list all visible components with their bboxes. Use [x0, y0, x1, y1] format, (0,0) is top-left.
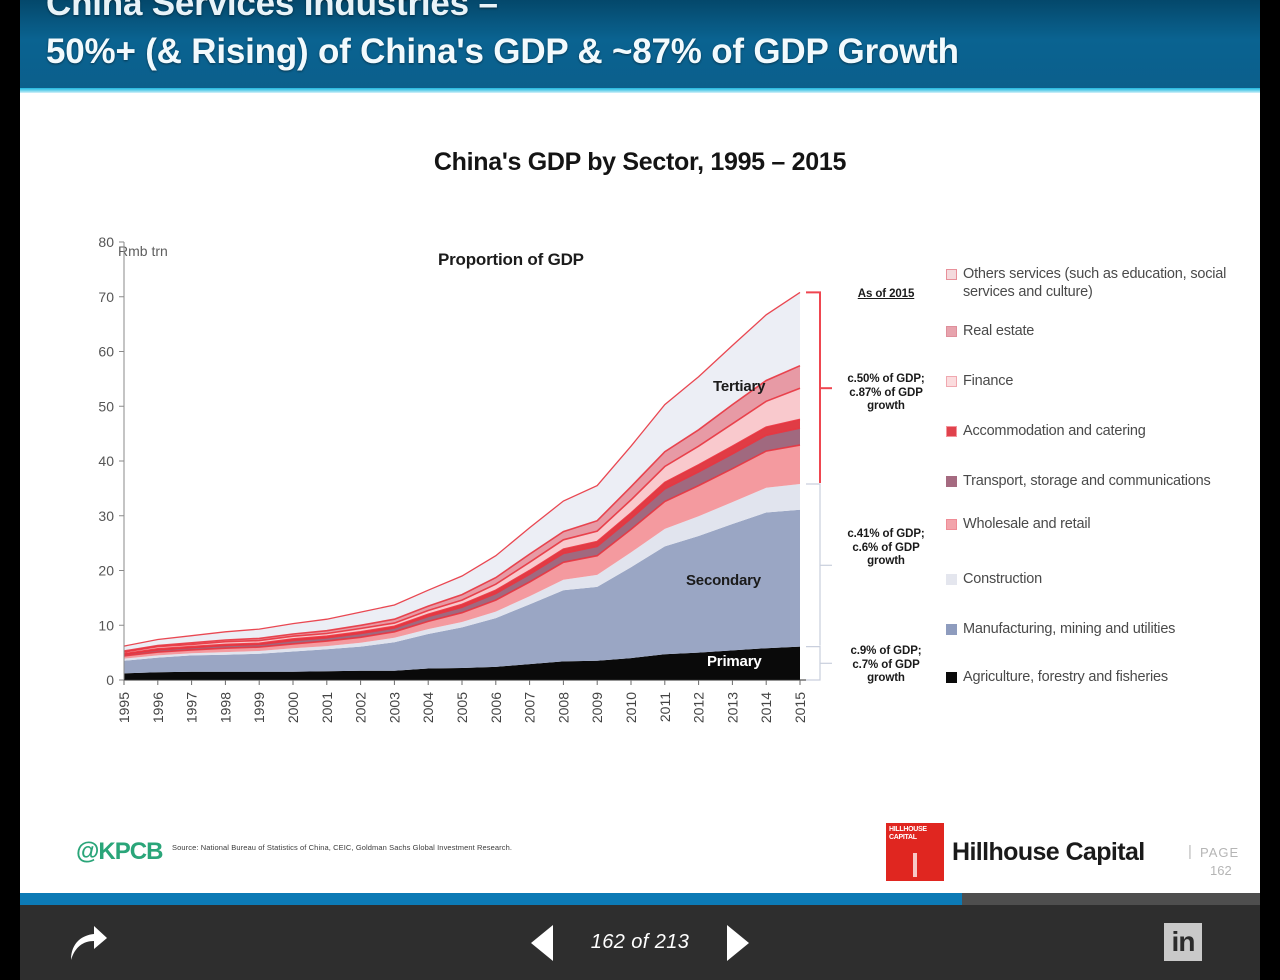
legend-swatch-icon	[946, 672, 957, 683]
linkedin-label: in	[1172, 928, 1195, 956]
svg-text:60: 60	[98, 344, 114, 360]
svg-text:2013: 2013	[724, 692, 740, 723]
legend-label: Construction	[963, 571, 1042, 589]
source-note: Source: National Bureau of Statistics of…	[172, 843, 512, 852]
footer-divider: |	[1188, 843, 1192, 860]
page-navigation: 162 of 213	[20, 905, 1260, 980]
page-word-label: PAGE	[1200, 845, 1239, 860]
svg-text:2001: 2001	[319, 692, 335, 723]
legend-label: Accommodation and catering	[963, 423, 1146, 441]
legend-label: Manufacturing, mining and utilities	[963, 621, 1175, 639]
legend-item: Agriculture, forestry and fisheries	[946, 669, 1168, 687]
legend-label: Transport, storage and communications	[963, 473, 1211, 491]
linkedin-share-button[interactable]: in	[1164, 923, 1202, 961]
svg-text:1995: 1995	[116, 692, 132, 723]
svg-text:2000: 2000	[285, 692, 301, 723]
annotation-primary: c.9% of GDP; c.7% of GDP growth	[838, 645, 934, 686]
band-label-tertiary: Tertiary	[713, 378, 765, 395]
slideshare-viewer: China Services Industries – 50%+ (& Risi…	[0, 0, 1280, 980]
legend-label: Finance	[963, 373, 1013, 391]
progress-track[interactable]	[20, 893, 1260, 905]
svg-text:2011: 2011	[657, 692, 673, 722]
svg-text:2006: 2006	[488, 692, 504, 723]
legend-item: Transport, storage and communications	[946, 473, 1211, 491]
svg-text:2014: 2014	[758, 692, 774, 723]
legend-item: Others services (such as education, soci…	[946, 266, 1256, 301]
svg-text:1997: 1997	[184, 692, 200, 723]
hillhouse-logo-line-1: HILLHOUSE	[889, 826, 927, 833]
svg-text:2012: 2012	[691, 692, 707, 723]
annotation-heading-wrap: As of 2015	[838, 288, 934, 300]
svg-text:40: 40	[98, 453, 114, 469]
svg-text:2008: 2008	[555, 692, 571, 723]
svg-text:20: 20	[98, 563, 114, 579]
slide-header-line-1: China Services Industries –	[46, 0, 1226, 24]
hillhouse-logo-mark: HILLHOUSE CAPITAL	[886, 823, 944, 881]
legend-item: Manufacturing, mining and utilities	[946, 621, 1175, 639]
legend-swatch-icon	[946, 476, 957, 487]
hillhouse-logo-bar	[913, 853, 917, 877]
legend-swatch-icon	[946, 624, 957, 635]
slide-page-number: 162	[1210, 863, 1232, 878]
svg-text:80: 80	[98, 234, 114, 250]
viewer-navbar: 162 of 213 in	[20, 905, 1260, 980]
svg-text:2002: 2002	[353, 692, 369, 723]
legend-label: Agriculture, forestry and fisheries	[963, 669, 1168, 687]
legend-swatch-icon	[946, 519, 957, 530]
legend-swatch-icon	[946, 376, 957, 387]
svg-text:0: 0	[106, 672, 114, 688]
progress-fill	[20, 893, 962, 905]
legend-swatch-icon	[946, 574, 957, 585]
kpcb-logo: @KPCB	[76, 838, 162, 866]
annotation-heading: As of 2015	[838, 288, 934, 300]
hillhouse-logo-text: HILLHOUSE CAPITAL	[889, 826, 927, 842]
next-slide-button[interactable]	[727, 925, 749, 961]
slide-header-band: China Services Industries – 50%+ (& Risi…	[20, 0, 1260, 88]
svg-text:1999: 1999	[251, 692, 267, 723]
svg-text:70: 70	[98, 289, 114, 305]
header-accent-rule	[20, 88, 1260, 93]
hillhouse-logo-line-2: CAPITAL	[889, 834, 917, 841]
prev-slide-button[interactable]	[531, 925, 553, 961]
hillhouse-name: Hillhouse Capital	[952, 838, 1145, 867]
page-indicator: 162 of 213	[575, 931, 705, 954]
legend-label: Real estate	[963, 323, 1034, 341]
svg-text:2010: 2010	[623, 692, 639, 723]
band-label-primary: Primary	[707, 653, 761, 670]
legend-swatch-icon	[946, 426, 957, 437]
svg-text:2015: 2015	[792, 692, 808, 723]
slide-canvas: China Services Industries – 50%+ (& Risi…	[20, 0, 1260, 893]
svg-text:2007: 2007	[522, 692, 538, 723]
svg-text:2003: 2003	[386, 692, 402, 723]
chart-title: China's GDP by Sector, 1995 – 2015	[20, 148, 1260, 177]
legend-label: Others services (such as education, soci…	[963, 266, 1256, 301]
svg-text:2005: 2005	[454, 692, 470, 723]
legend-item: Wholesale and retail	[946, 516, 1090, 534]
legend-item: Construction	[946, 571, 1042, 589]
annotation-secondary: c.41% of GDP; c.6% of GDP growth	[838, 528, 934, 569]
slide-header-line-2: 50%+ (& Rising) of China's GDP & ~87% of…	[46, 32, 1226, 72]
svg-text:10: 10	[98, 617, 114, 633]
svg-text:2004: 2004	[420, 692, 436, 723]
band-label-secondary: Secondary	[686, 572, 761, 589]
legend-swatch-icon	[946, 269, 957, 280]
annotation-tertiary: c.50% of GDP; c.87% of GDP growth	[838, 373, 934, 414]
svg-text:1998: 1998	[217, 692, 233, 723]
stacked-area-chart: 0102030405060708019951996199719981999200…	[78, 232, 858, 752]
legend-item: Real estate	[946, 323, 1034, 341]
svg-text:1996: 1996	[150, 692, 166, 723]
svg-text:2009: 2009	[589, 692, 605, 723]
svg-text:30: 30	[98, 508, 114, 524]
legend-item: Finance	[946, 373, 1013, 391]
legend-swatch-icon	[946, 326, 957, 337]
svg-text:50: 50	[98, 398, 114, 414]
legend-label: Wholesale and retail	[963, 516, 1090, 534]
legend-item: Accommodation and catering	[946, 423, 1146, 441]
